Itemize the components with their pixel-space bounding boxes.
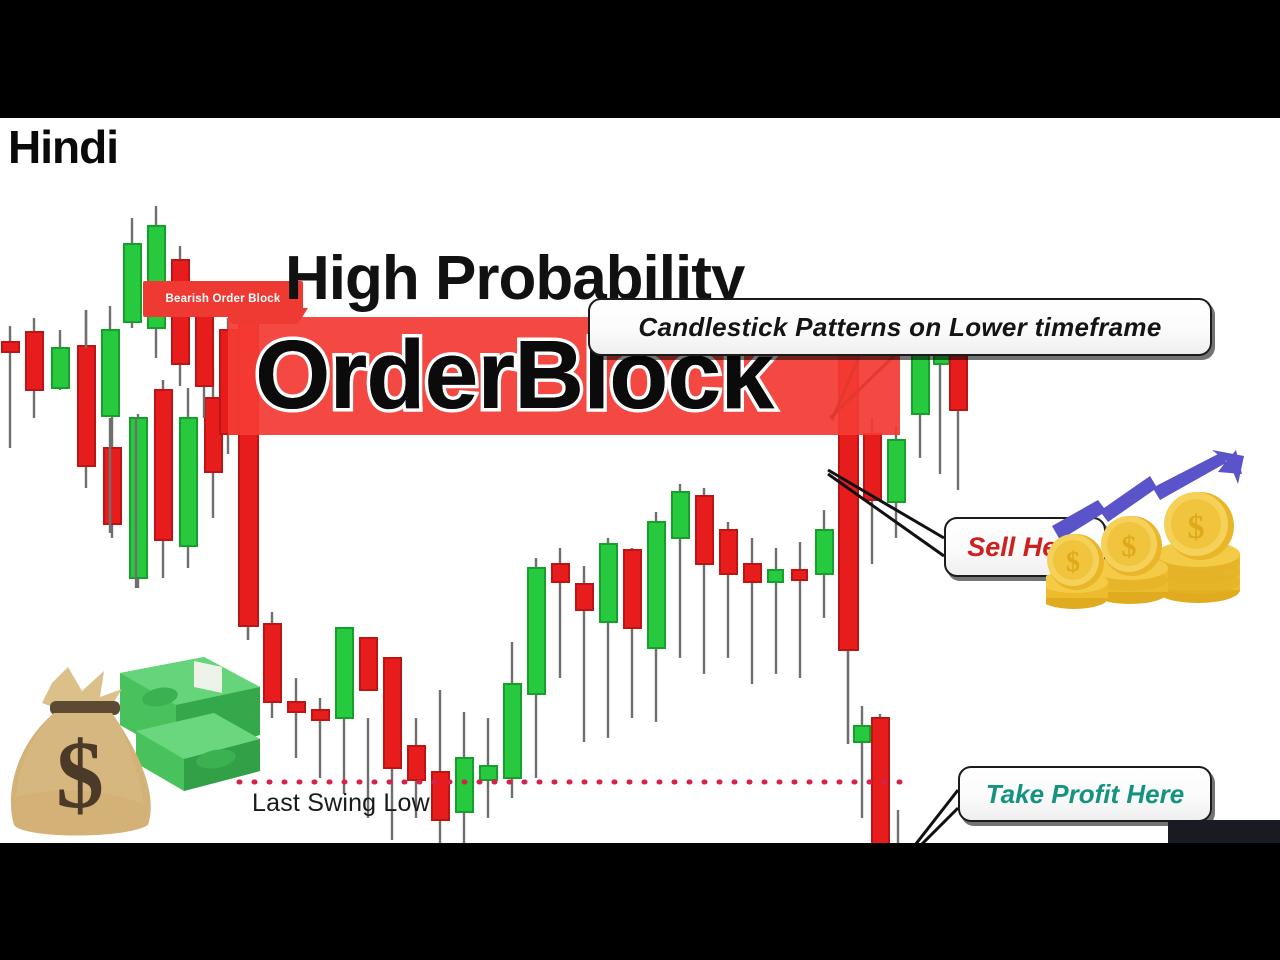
svg-text:$: $ [1188, 509, 1205, 546]
bearish-order-block-label: Bearish Order Block [165, 293, 280, 305]
money-bag-icon: $ [8, 639, 263, 839]
coin-stack-short: $ [1046, 534, 1108, 609]
coin-stack-tall: $ [1156, 492, 1240, 603]
coin-stacks-icon: $ $ $ [1046, 448, 1276, 618]
chart-canvas: Bearish Order Block High Probability Ord… [0, 118, 1280, 843]
callout-candlestick-patterns-text: Candlestick Patterns on Lower timeframe [638, 312, 1161, 343]
callout-candlestick-patterns[interactable]: Candlestick Patterns on Lower timeframe [588, 298, 1212, 356]
letterbox-bottom [0, 843, 1280, 960]
video-thumbnail: Bearish Order Block High Probability Ord… [0, 0, 1280, 960]
svg-text:$: $ [1066, 547, 1080, 578]
svg-text:$: $ [1122, 530, 1137, 563]
letterbox-top [0, 0, 1280, 118]
callout-take-profit-here-text: Take Profit Here [986, 779, 1184, 810]
dollar-glyph: $ [56, 721, 104, 828]
callout-take-profit-here[interactable]: Take Profit Here [958, 766, 1212, 822]
last-swing-low-label: Last Swing Low [252, 789, 430, 818]
corner-overlay [1168, 820, 1280, 843]
bearish-order-block-tab: Bearish Order Block [143, 281, 303, 317]
